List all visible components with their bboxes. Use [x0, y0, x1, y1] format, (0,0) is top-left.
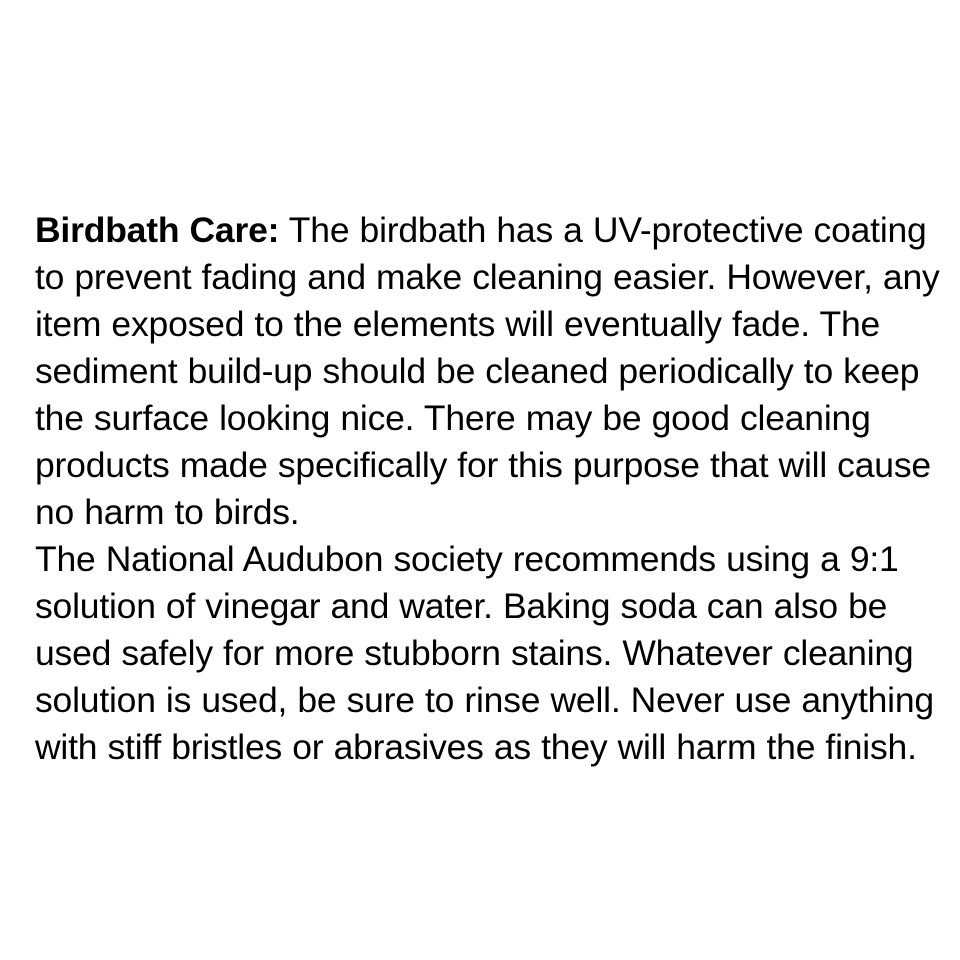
- document-page: Birdbath Care: The birdbath has a UV-pro…: [0, 0, 960, 960]
- cleaning-solution-paragraph: The National Audubon society recommends …: [35, 536, 940, 771]
- cleaning-solution-body-run: The National Audubon society recommends …: [35, 539, 934, 767]
- birdbath-care-heading-run: Birdbath Care:: [35, 210, 279, 250]
- birdbath-care-paragraph: Birdbath Care: The birdbath has a UV-pro…: [35, 207, 940, 536]
- document-text-body: Birdbath Care: The birdbath has a UV-pro…: [35, 207, 940, 771]
- birdbath-care-body-run: The birdbath has a UV-protective coating…: [35, 210, 940, 532]
